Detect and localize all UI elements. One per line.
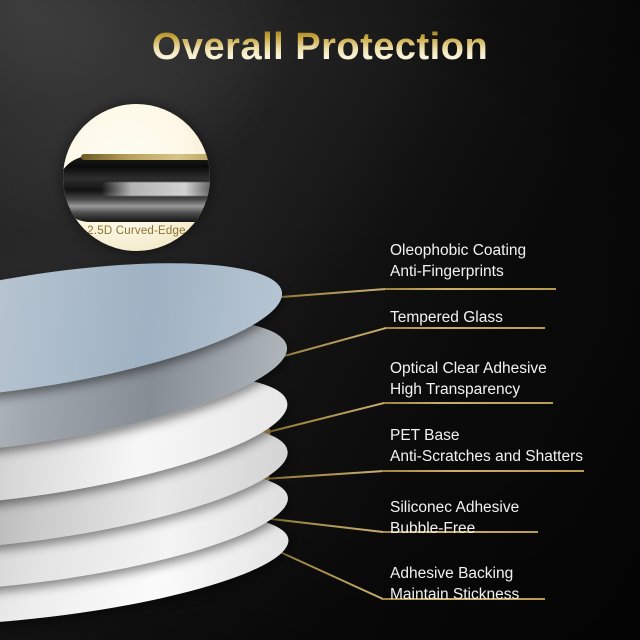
product-infographic: Overall Protection 2.5D Curved-Edge Oleo… <box>0 0 640 640</box>
label-subtitle: High Transparency <box>390 379 547 400</box>
label-subtitle: Maintain Stickness <box>390 584 519 605</box>
page-title: Overall Protection <box>0 26 640 69</box>
layer-label-oleophobic-coating: Oleophobic CoatingAnti-Fingerprints <box>390 240 526 282</box>
label-underline-optical-clear-adhesive <box>384 402 553 404</box>
label-title: Oleophobic Coating <box>390 242 526 259</box>
label-title: PET Base <box>390 427 460 444</box>
layer-label-tempered-glass: Tempered Glass <box>390 307 503 328</box>
label-underline-oleophobic-coating <box>386 288 556 290</box>
label-subtitle: Bubble-Free <box>390 518 519 539</box>
layer-stack <box>0 255 350 585</box>
inset-caption: 2.5D Curved-Edge <box>63 225 210 237</box>
layer-label-pet-base: PET BaseAnti-Scratches and Shatters <box>390 425 583 467</box>
label-title: Adhesive Backing <box>390 565 513 582</box>
layer-label-optical-clear-adhesive: Optical Clear AdhesiveHigh Transparency <box>390 358 547 400</box>
label-subtitle: Anti-Fingerprints <box>390 261 526 282</box>
label-underline-pet-base <box>383 470 584 472</box>
label-title: Siliconec Adhesive <box>390 499 519 516</box>
layer-label-siliconec-adhesive: Siliconec AdhesiveBubble-Free <box>390 497 519 539</box>
label-title: Optical Clear Adhesive <box>390 360 547 377</box>
layer-label-adhesive-backing: Adhesive BackingMaintain Stickness <box>390 563 519 605</box>
screen-gloss-highlight <box>101 182 210 196</box>
label-title: Tempered Glass <box>390 309 503 326</box>
curved-edge-closeup: 2.5D Curved-Edge <box>63 104 210 251</box>
label-subtitle: Anti-Scratches and Shatters <box>390 446 583 467</box>
gold-edge-strip <box>81 154 210 160</box>
